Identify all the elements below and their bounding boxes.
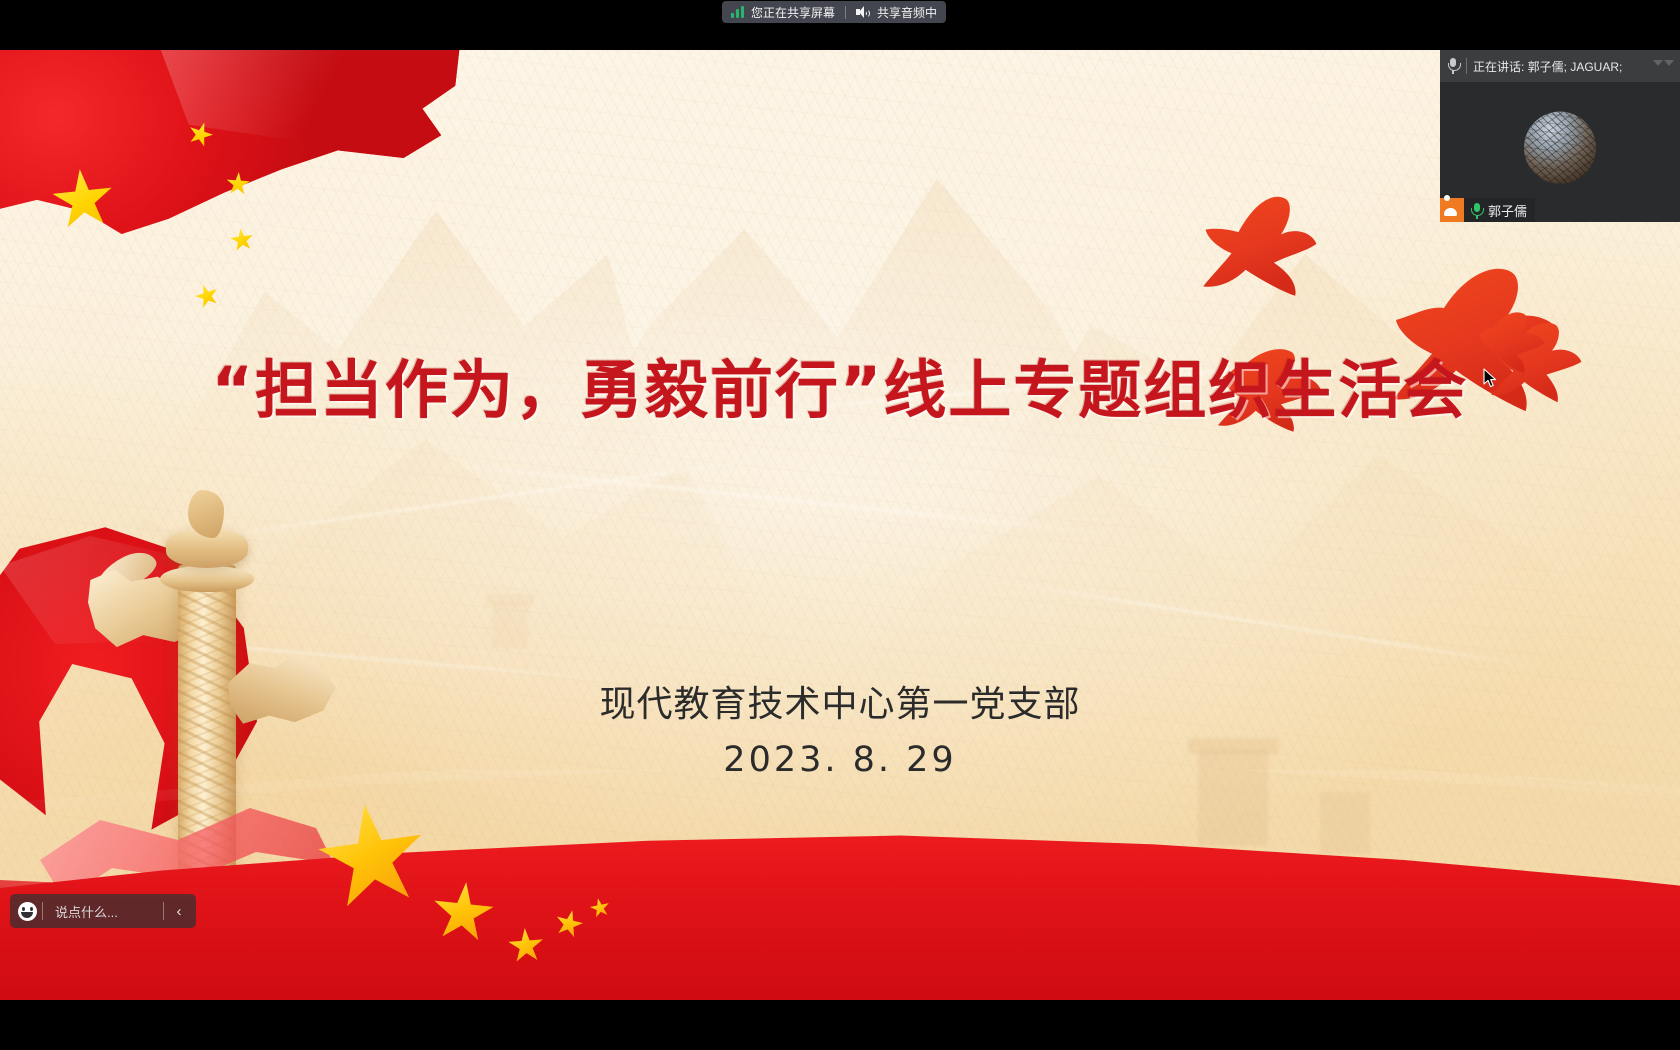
screen-share-status-label: 您正在共享屏幕 (751, 4, 835, 21)
microphone-icon (1446, 57, 1460, 75)
slide-organization: 现代教育技术中心第一党支部 (0, 675, 1680, 727)
speaker-icon (856, 6, 870, 19)
video-thumbnail[interactable]: 郭子儒 (1440, 82, 1680, 222)
chat-input[interactable]: 说点什么... (43, 902, 163, 921)
slide-title: “担当作为，勇毅前行”线上专题组织生活会 (0, 340, 1680, 431)
avatar (1524, 112, 1596, 184)
chevron-left-icon[interactable]: ‹ (164, 894, 194, 928)
chat-input-bar[interactable]: 说点什么... ‹ (10, 894, 196, 928)
flag-star-small (192, 281, 222, 311)
red-wave-decoration (0, 770, 1680, 1000)
microphone-active-icon (1470, 202, 1483, 219)
active-speaker-header: 正在讲话: 郭子儒; JAGUAR; (1440, 50, 1680, 82)
divider (1466, 58, 1467, 74)
person-icon (1440, 198, 1464, 222)
smiley-icon[interactable] (12, 894, 42, 928)
speaking-label: 正在讲话: 郭子儒; JAGUAR; (1473, 58, 1647, 75)
shared-slide: “担当作为，勇毅前行”线上专题组织生活会 现代教育技术中心第一党支部 2023.… (0, 50, 1680, 1000)
participant-name: 郭子儒 (1488, 201, 1527, 220)
flag-star-small (228, 226, 255, 253)
chevron-collapse-icon[interactable] (1653, 60, 1674, 72)
screen-share-topbar: 您正在共享屏幕 共享音频中 (0, 0, 1680, 24)
screen-root: “担当作为，勇毅前行”线上专题组织生活会 现代教育技术中心第一党支部 2023.… (0, 0, 1680, 1050)
audio-share-status-label: 共享音频中 (877, 4, 937, 21)
divider (845, 6, 846, 19)
chinese-flag-icon (0, 50, 460, 234)
signal-bars-icon (731, 6, 744, 18)
participant-name-bar: 郭子儒 (1440, 198, 1535, 222)
share-status-pill[interactable]: 您正在共享屏幕 共享音频中 (722, 1, 946, 23)
pillar-disc (160, 566, 254, 592)
participant-video-panel[interactable]: 正在讲话: 郭子儒; JAGUAR; 郭子儒 (1440, 50, 1680, 222)
